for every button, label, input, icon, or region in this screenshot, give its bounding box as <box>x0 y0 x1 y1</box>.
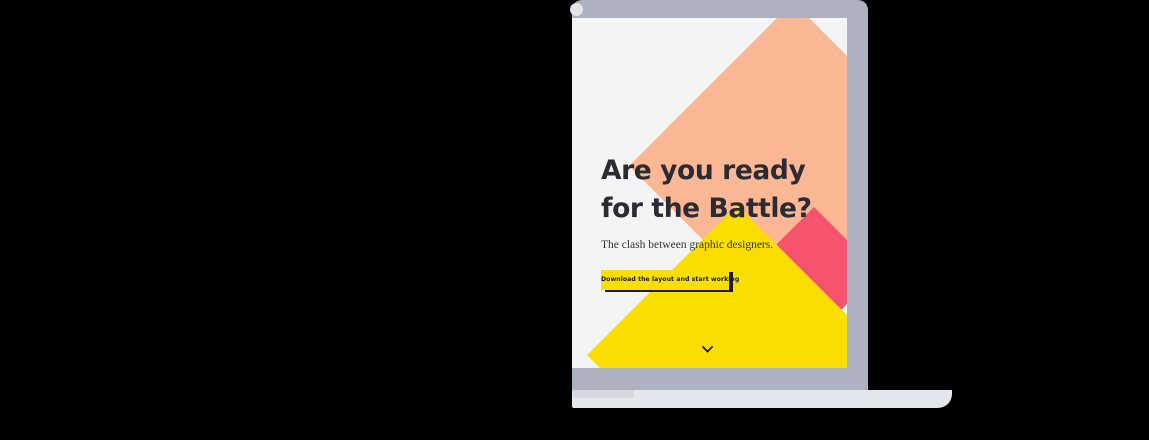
page-title: Are you ready for the Battle? <box>601 152 847 228</box>
webcam-icon <box>570 3 583 16</box>
download-layout-button[interactable]: Download the layout and start working <box>601 270 729 290</box>
page-subtitle: The clash between graphic designers. <box>601 238 847 252</box>
hero-section: Are you ready for the Battle? The clash … <box>601 152 847 290</box>
laptop-screen: Are you ready for the Battle? The clash … <box>572 18 847 368</box>
screenshot-canvas: Are you ready for the Battle? The clash … <box>0 0 1149 440</box>
chevron-down-icon[interactable] <box>700 342 714 356</box>
cta-wrapper: Download the layout and start working <box>601 268 729 290</box>
laptop-base-notch <box>572 390 634 398</box>
laptop-mockup: Are you ready for the Battle? The clash … <box>0 0 1149 440</box>
